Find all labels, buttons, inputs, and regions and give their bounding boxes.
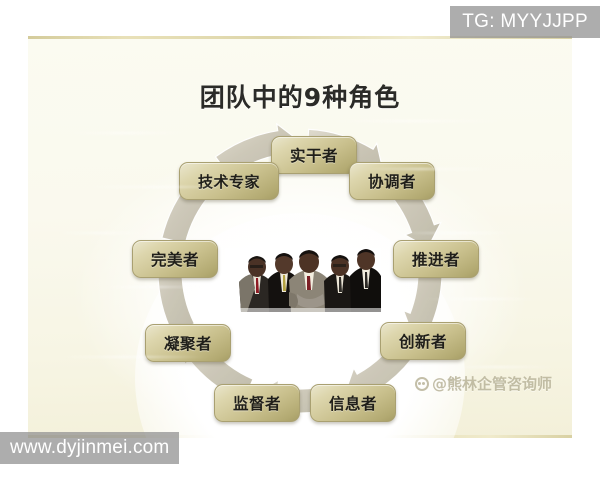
weibo-watermark: @熊林企管咨询师: [415, 373, 552, 394]
group-of-businessmen-photo: [225, 248, 381, 312]
role-node-label: 技术专家: [198, 171, 260, 192]
role-node-label: 监督者: [233, 392, 281, 414]
role-node-innovator[interactable]: 创新者: [380, 322, 466, 360]
role-node-label: 推进者: [412, 248, 460, 270]
screenshot-canvas: 团队中的9种角色: [0, 0, 600, 480]
page-title: 团队中的9种角色: [28, 78, 572, 114]
role-node-monitor[interactable]: 监督者: [214, 384, 300, 422]
role-node-label: 完美者: [151, 248, 199, 270]
weibo-logo-icon: [415, 377, 429, 391]
presentation-slide: 团队中的9种角色: [28, 36, 572, 438]
role-node-label: 实干者: [290, 144, 338, 166]
role-node-shaper[interactable]: 推进者: [393, 240, 479, 278]
top-right-watermark: TG: MYYJJPP: [450, 6, 600, 38]
role-node-label: 凝聚者: [164, 332, 212, 354]
role-node-specialist[interactable]: 技术专家: [179, 162, 279, 200]
role-node-coordinator[interactable]: 协调者: [349, 162, 435, 200]
role-node-info-provider[interactable]: 信息者: [310, 384, 396, 422]
role-node-label: 协调者: [368, 170, 416, 192]
role-node-completer[interactable]: 完美者: [132, 240, 218, 278]
bottom-left-watermark: www.dyjinmei.com: [0, 432, 179, 464]
role-node-label: 创新者: [399, 330, 447, 352]
role-node-implementer[interactable]: 实干者: [271, 136, 357, 174]
role-node-label: 信息者: [329, 392, 377, 414]
role-node-teamworker[interactable]: 凝聚者: [145, 324, 231, 362]
businessmen-illustration: [225, 248, 381, 312]
weibo-handle: @熊林企管咨询师: [432, 373, 552, 394]
